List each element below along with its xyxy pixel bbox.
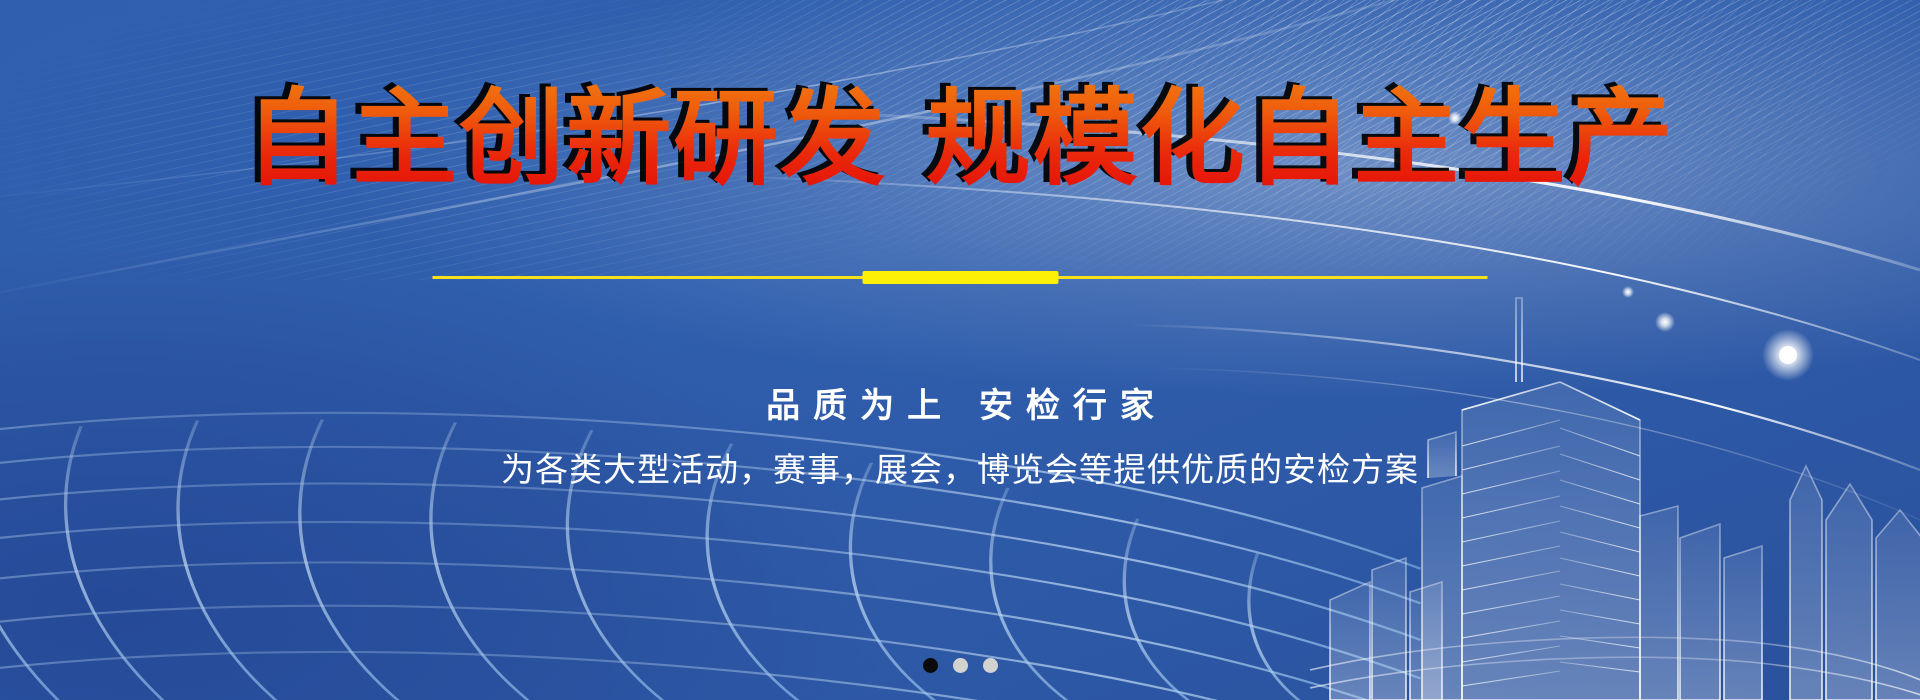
carousel-dot-3[interactable]	[983, 658, 998, 673]
hero-banner: 自主创新研发 规模化自主生产 品质为上 安检行家 为各类大型活动，赛事，展会，博…	[0, 0, 1920, 700]
banner-headline: 自主创新研发 规模化自主生产	[0, 84, 1920, 194]
banner-subtitle-secondary: 为各类大型活动，赛事，展会，博览会等提供优质的安检方案	[0, 443, 1920, 491]
yellow-divider	[433, 270, 1488, 284]
divider-thick-rule	[862, 271, 1058, 284]
carousel-indicators	[0, 658, 1920, 673]
banner-subtitle-primary: 品质为上 安检行家	[0, 378, 1920, 427]
carousel-dot-2[interactable]	[953, 658, 968, 673]
carousel-dot-1[interactable]	[923, 658, 938, 673]
